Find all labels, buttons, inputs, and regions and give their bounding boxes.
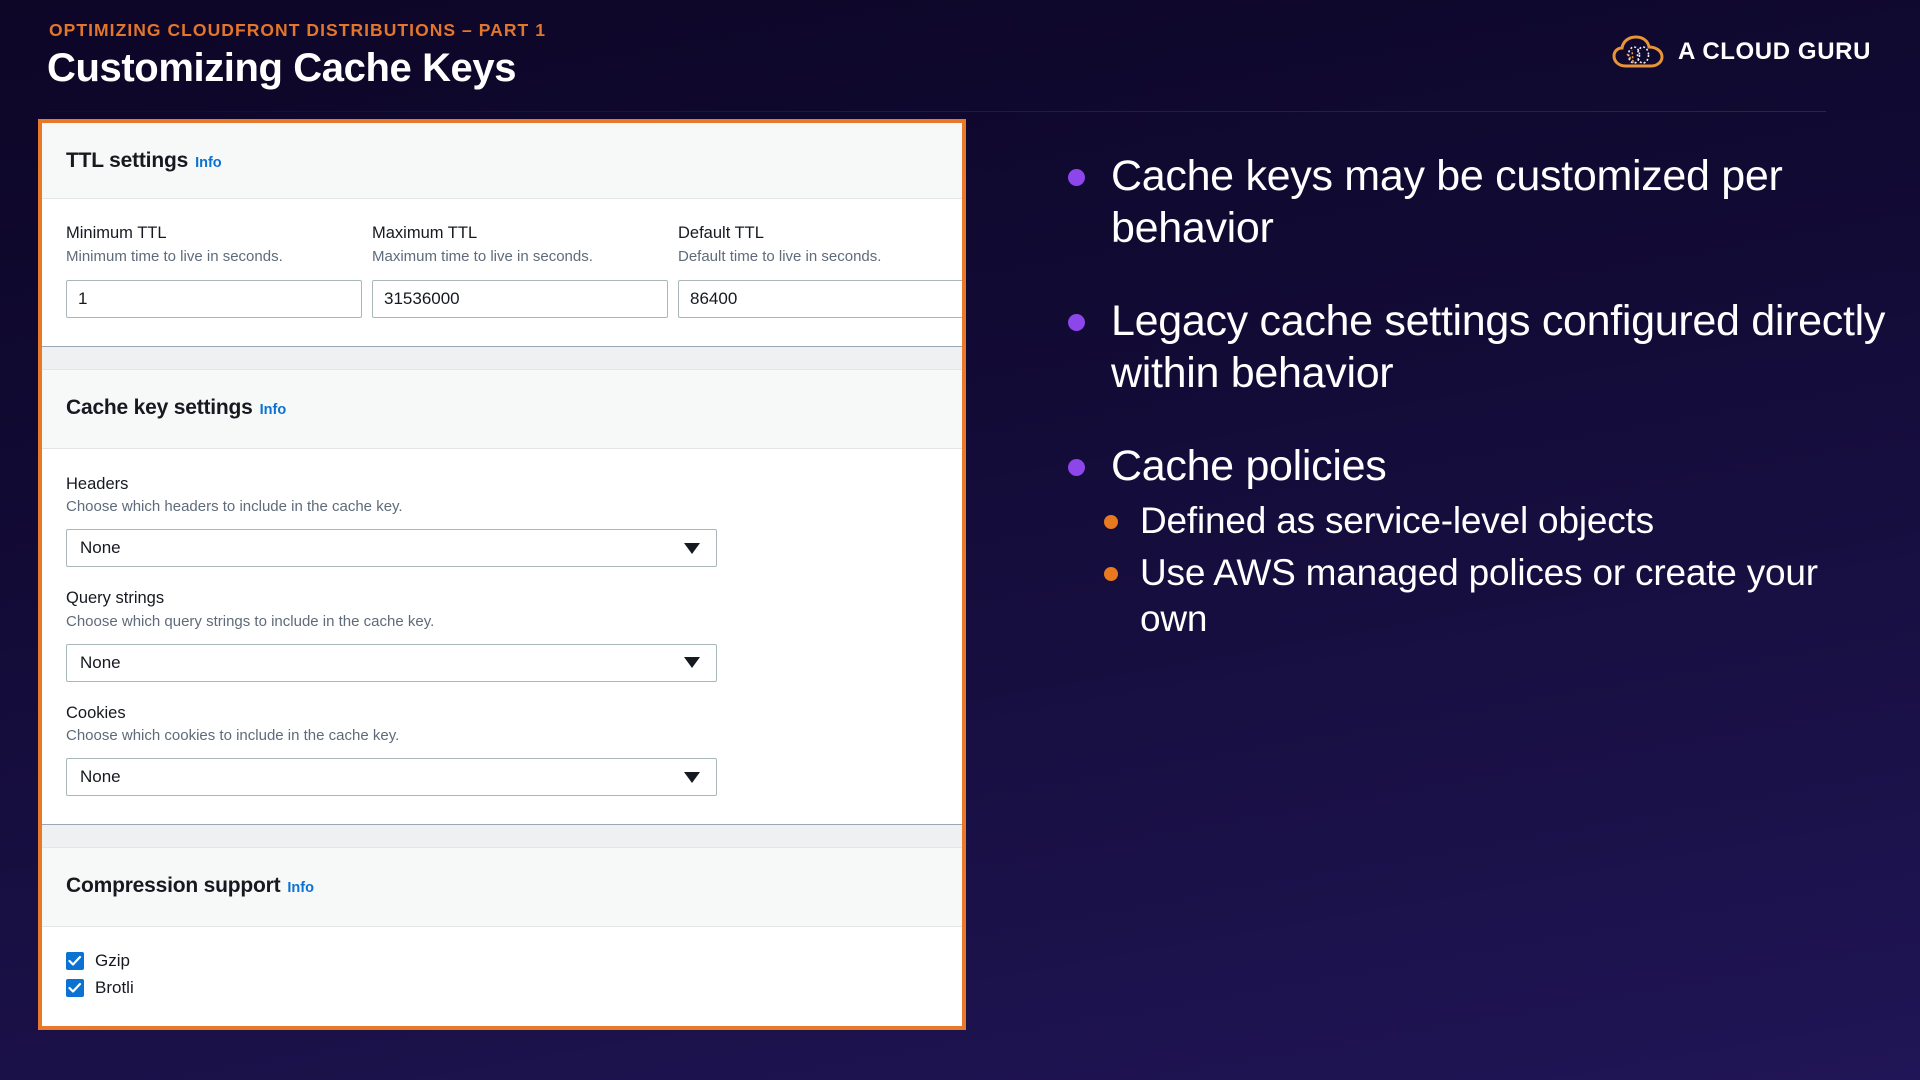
gzip-label: Gzip bbox=[95, 951, 130, 971]
aws-console-screenshot: TTL settingsInfo Minimum TTL Minimum tim… bbox=[38, 119, 966, 1030]
brand-name: A CLOUD GURU bbox=[1678, 38, 1871, 66]
minimum-ttl-input[interactable]: 1 bbox=[66, 280, 362, 318]
sub-bullet-text: Use AWS managed polices or create your o… bbox=[1140, 550, 1888, 643]
query-strings-select-value: None bbox=[80, 653, 121, 673]
headers-select[interactable]: None bbox=[66, 529, 717, 567]
cache-key-settings-title: Cache key settings bbox=[66, 396, 253, 419]
compression-checkbox-list: Gzip Brotli bbox=[66, 927, 938, 1015]
bullet-dot-icon bbox=[1068, 169, 1085, 186]
bullet-item: Legacy cache settings configured directl… bbox=[1068, 295, 1888, 400]
headers-label: Headers bbox=[66, 475, 938, 495]
sub-bullet-dot-icon bbox=[1104, 567, 1118, 581]
bullet-text: Legacy cache settings configured directl… bbox=[1111, 295, 1888, 400]
chevron-down-icon bbox=[684, 772, 700, 783]
ttl-settings-header: TTL settingsInfo bbox=[42, 123, 962, 199]
slide-header: OPTIMIZING CLOUDFRONT DISTRIBUTIONS – PA… bbox=[0, 0, 1920, 112]
cache-key-settings-body: Headers Choose which headers to include … bbox=[42, 449, 962, 825]
checkbox-checked-icon[interactable] bbox=[66, 952, 84, 970]
maximum-ttl-label: Maximum TTL bbox=[372, 224, 678, 244]
ttl-settings-title: TTL settings bbox=[66, 149, 188, 172]
ttl-settings-info-link[interactable]: Info bbox=[195, 155, 222, 171]
bullet-text: Cache policies bbox=[1111, 440, 1386, 492]
default-ttl-label: Default TTL bbox=[678, 224, 966, 244]
default-ttl-input[interactable]: 86400 bbox=[678, 280, 966, 318]
cache-key-settings-header: Cache key settingsInfo bbox=[42, 370, 962, 449]
cookies-field-group: Cookies Choose which cookies to include … bbox=[66, 682, 938, 797]
headers-select-value: None bbox=[80, 538, 121, 558]
minimum-ttl-field-group: Minimum TTL Minimum time to live in seco… bbox=[66, 224, 372, 318]
cloud-guru-logo-icon bbox=[1612, 35, 1664, 69]
sub-bullet-text: Defined as service-level objects bbox=[1140, 498, 1654, 544]
page-title: Customizing Cache Keys bbox=[47, 46, 516, 91]
sub-bullet-item: Use AWS managed polices or create your o… bbox=[1068, 550, 1888, 643]
bullet-dot-icon bbox=[1068, 459, 1085, 476]
section-divider-2 bbox=[42, 824, 962, 848]
query-strings-label: Query strings bbox=[66, 589, 938, 609]
brotli-label: Brotli bbox=[95, 978, 134, 998]
minimum-ttl-description: Minimum time to live in seconds. bbox=[66, 248, 372, 267]
maximum-ttl-description: Maximum time to live in seconds. bbox=[372, 248, 678, 267]
maximum-ttl-field-group: Maximum TTL Maximum time to live in seco… bbox=[372, 224, 678, 318]
bullet-text: Cache keys may be customized per behavio… bbox=[1111, 150, 1888, 255]
query-strings-description: Choose which query strings to include in… bbox=[66, 613, 938, 632]
cache-key-settings-info-link[interactable]: Info bbox=[260, 402, 287, 418]
compression-support-header: Compression supportInfo bbox=[42, 848, 962, 927]
compression-support-title: Compression support bbox=[66, 874, 280, 897]
gzip-checkbox-row[interactable]: Gzip bbox=[66, 951, 938, 971]
cookies-label: Cookies bbox=[66, 704, 938, 724]
default-ttl-description: Default time to live in seconds. bbox=[678, 248, 966, 267]
sub-bullet-list: Defined as service-level objects Use AWS… bbox=[1068, 498, 1888, 642]
header-divider bbox=[46, 111, 1826, 112]
bullet-dot-icon bbox=[1068, 314, 1085, 331]
brand: A CLOUD GURU bbox=[1612, 30, 1871, 74]
cookies-select[interactable]: None bbox=[66, 758, 717, 796]
bullet-list: Cache keys may be customized per behavio… bbox=[1068, 150, 1888, 642]
bullet-item-group: Cache policies Defined as service-level … bbox=[1068, 440, 1888, 642]
bullet-item: Cache keys may be customized per behavio… bbox=[1068, 150, 1888, 255]
query-strings-field-group: Query strings Choose which query strings… bbox=[66, 567, 938, 682]
section-divider-1 bbox=[42, 346, 962, 370]
chevron-down-icon bbox=[684, 657, 700, 668]
brotli-checkbox-row[interactable]: Brotli bbox=[66, 978, 938, 998]
headers-field-group: Headers Choose which headers to include … bbox=[66, 449, 938, 568]
default-ttl-field-group: Default TTL Default time to live in seco… bbox=[678, 224, 966, 318]
cookies-select-value: None bbox=[80, 767, 121, 787]
chevron-down-icon bbox=[684, 543, 700, 554]
compression-support-info-link[interactable]: Info bbox=[287, 880, 314, 896]
query-strings-select[interactable]: None bbox=[66, 644, 717, 682]
ttl-fields-row: Minimum TTL Minimum time to live in seco… bbox=[66, 199, 938, 346]
checkbox-checked-icon[interactable] bbox=[66, 979, 84, 997]
minimum-ttl-label: Minimum TTL bbox=[66, 224, 372, 244]
cookies-description: Choose which cookies to include in the c… bbox=[66, 727, 938, 746]
slide-eyebrow: OPTIMIZING CLOUDFRONT DISTRIBUTIONS – PA… bbox=[49, 20, 546, 41]
compression-support-body: Gzip Brotli bbox=[42, 927, 962, 1015]
ttl-settings-body: Minimum TTL Minimum time to live in seco… bbox=[42, 199, 962, 346]
maximum-ttl-input[interactable]: 31536000 bbox=[372, 280, 668, 318]
headers-description: Choose which headers to include in the c… bbox=[66, 498, 938, 517]
sub-bullet-item: Defined as service-level objects bbox=[1068, 498, 1888, 544]
bullet-item: Cache policies bbox=[1068, 440, 1888, 492]
sub-bullet-dot-icon bbox=[1104, 515, 1118, 529]
